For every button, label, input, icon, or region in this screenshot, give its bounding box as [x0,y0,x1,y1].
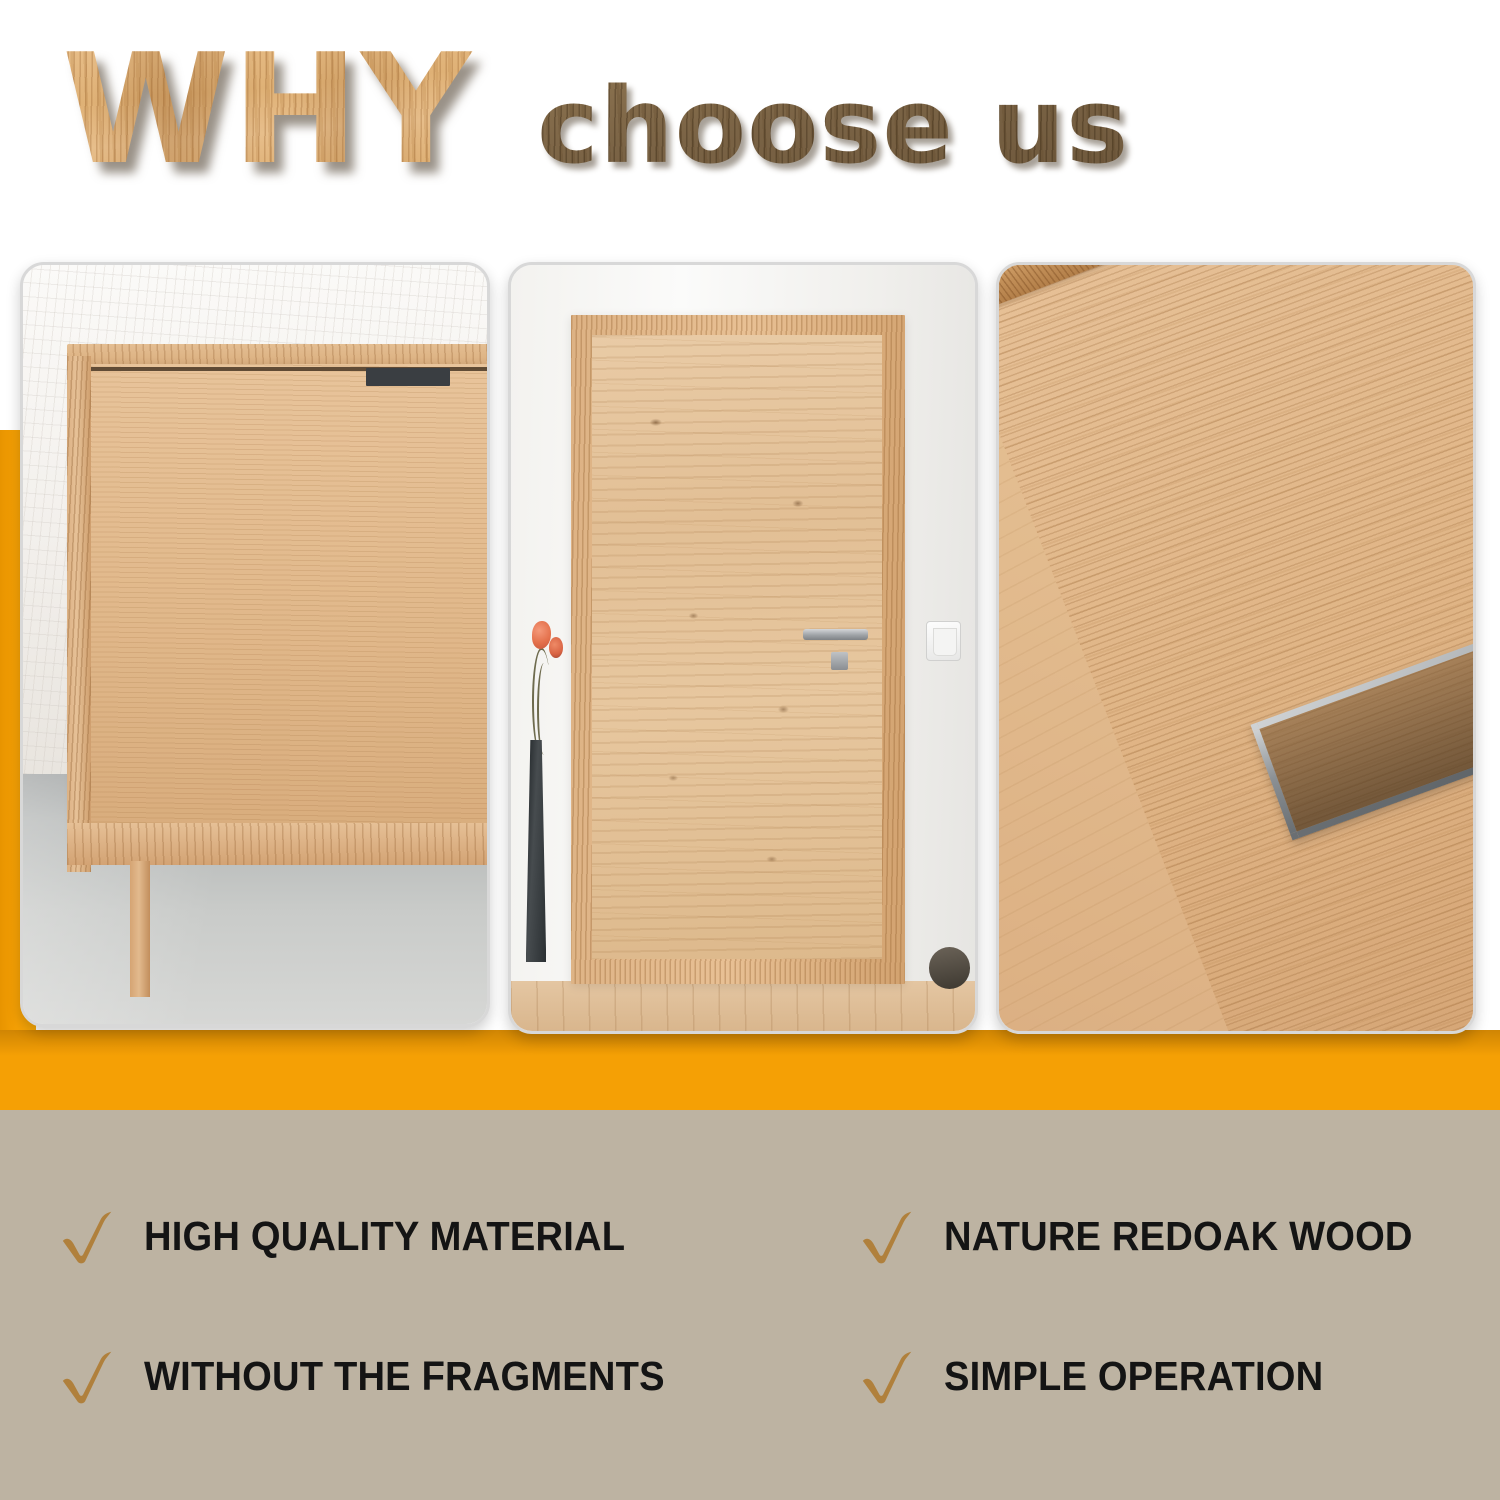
product-photo-gallery [0,262,1500,1037]
cabinet-left-post [67,356,91,872]
feature-label: WITHOUT THE FRAGMENTS [144,1353,665,1400]
feature-list: HIGH QUALITY MATERIAL NATURE REDOAK WOOD… [58,1166,1448,1446]
title-choose-us: choose us [537,74,1129,178]
poppy-bud [549,637,563,658]
light-switch [926,621,961,661]
oak-edge-detail-photo [996,262,1476,1034]
title-why: WHY [62,34,473,186]
cabinet-leg [130,861,150,998]
check-icon [58,1345,120,1407]
cabinet-door-front [74,364,487,842]
door-lever-handle [803,629,868,640]
feature-item-high-quality-material: HIGH QUALITY MATERIAL [58,1205,858,1267]
check-icon [858,1345,920,1407]
page-title: WHY choose us [62,34,1129,214]
cabinet-bottom-rail [67,823,487,866]
cabinet-handle [366,368,450,386]
oak-cabinet-photo [20,262,490,1027]
check-icon [858,1205,920,1267]
oak-floor [511,981,975,1031]
door-lock-escutcheon [831,652,848,670]
feature-item-without-the-fragments: WITHOUT THE FRAGMENTS [58,1345,858,1407]
feature-label: NATURE REDOAK WOOD [944,1213,1413,1260]
why-choose-us-poster: WHY choose us [0,0,1500,1500]
check-icon [58,1205,120,1267]
oak-door-leaf [592,335,882,959]
feature-label: HIGH QUALITY MATERIAL [144,1213,625,1260]
feature-item-simple-operation: SIMPLE OPERATION [858,1345,1448,1407]
feature-label: SIMPLE OPERATION [944,1353,1323,1400]
features-footer: HIGH QUALITY MATERIAL NATURE REDOAK WOOD… [0,1110,1500,1500]
oak-door-photo [508,262,978,1034]
wood-slice-decor [929,947,971,989]
feature-item-nature-redoak-wood: NATURE REDOAK WOOD [858,1205,1448,1267]
